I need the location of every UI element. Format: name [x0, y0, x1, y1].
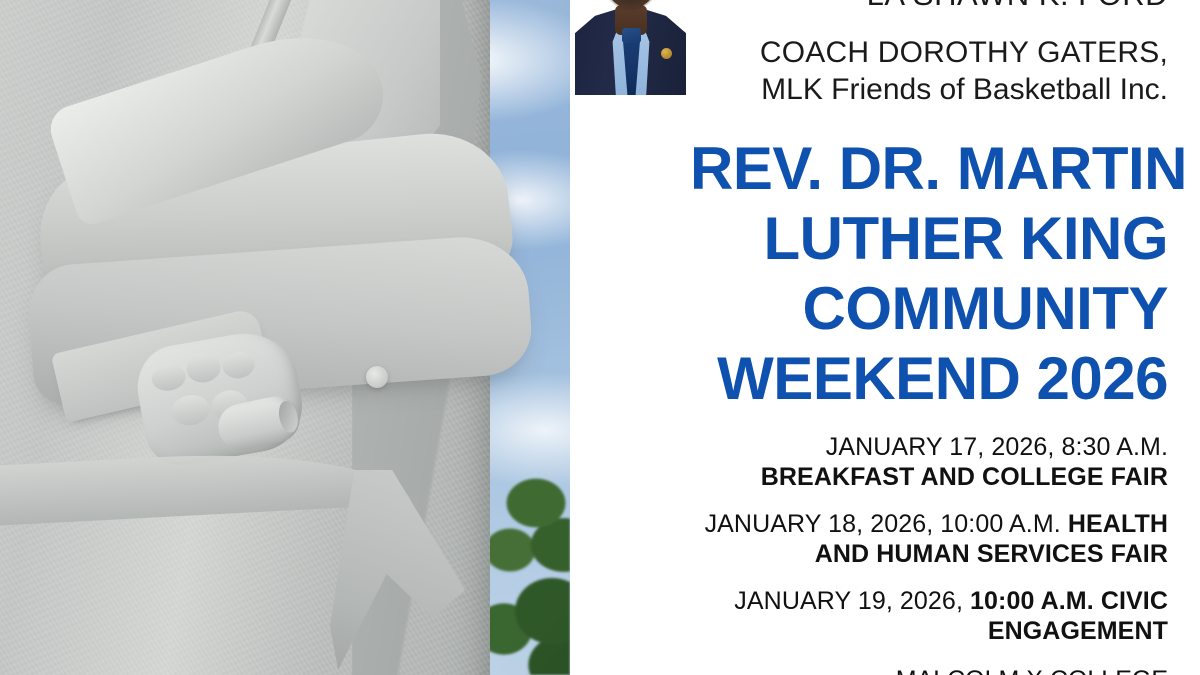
event-date: JANUARY 18, 2026, 10:00 A.M. [705, 510, 1068, 538]
event-item: JANUARY 17, 2026, 8:30 A.M. BREAKFAST AN… [690, 432, 1168, 492]
event-item: JANUARY 19, 2026, 10:00 A.M. CIVIC ENGAG… [690, 586, 1168, 646]
headline-line-3: COMMUNITY [690, 274, 1168, 344]
event-name: 10:00 A.M. CIVIC ENGAGEMENT [970, 587, 1168, 645]
mlk-statue-photo [0, 0, 570, 675]
headline-line-4: WEEKEND 2026 [690, 344, 1168, 414]
venue-name: MALCOLM X COLLEGE [690, 663, 1168, 675]
presenter-subline: COACH DOROTHY GATERS, MLK Friends of Bas… [690, 34, 1168, 108]
mlk-community-weekend-poster: LA SHAWN K. FORD COACH DOROTHY GATERS, M… [0, 0, 1200, 675]
poster-text-column: LA SHAWN K. FORD COACH DOROTHY GATERS, M… [690, 0, 1168, 675]
presenter-name-top: LA SHAWN K. FORD [690, 0, 1168, 12]
presenter-organization: MLK Friends of Basketball Inc. [761, 73, 1168, 106]
presenter-headshot [571, 0, 690, 95]
presenter-coach-name: COACH DOROTHY GATERS, [760, 36, 1168, 69]
event-name: BREAKFAST AND COLLEGE FAIR [761, 463, 1168, 491]
event-date: JANUARY 19, 2026, [734, 587, 970, 615]
event-date: JANUARY 17, 2026, 8:30 A.M. [826, 433, 1168, 461]
event-item: JANUARY 18, 2026, 10:00 A.M. HEALTH AND … [690, 509, 1168, 569]
lapel-pin-icon [661, 48, 672, 59]
headshot-tie-knot [622, 28, 641, 43]
headshot-beard [601, 0, 661, 10]
headline-line-1: REV. DR. MARTIN [690, 134, 1168, 204]
page-title: REV. DR. MARTIN LUTHER KING COMMUNITY WE… [690, 108, 1168, 414]
event-schedule-list: JANUARY 17, 2026, 8:30 A.M. BREAKFAST AN… [690, 432, 1168, 646]
photo-vignette [0, 0, 570, 675]
venue-address: MALCOLM X COLLEGE 1900 W. JACKSON BLVD. [690, 663, 1168, 675]
headline-line-2: LUTHER KING [690, 204, 1168, 274]
